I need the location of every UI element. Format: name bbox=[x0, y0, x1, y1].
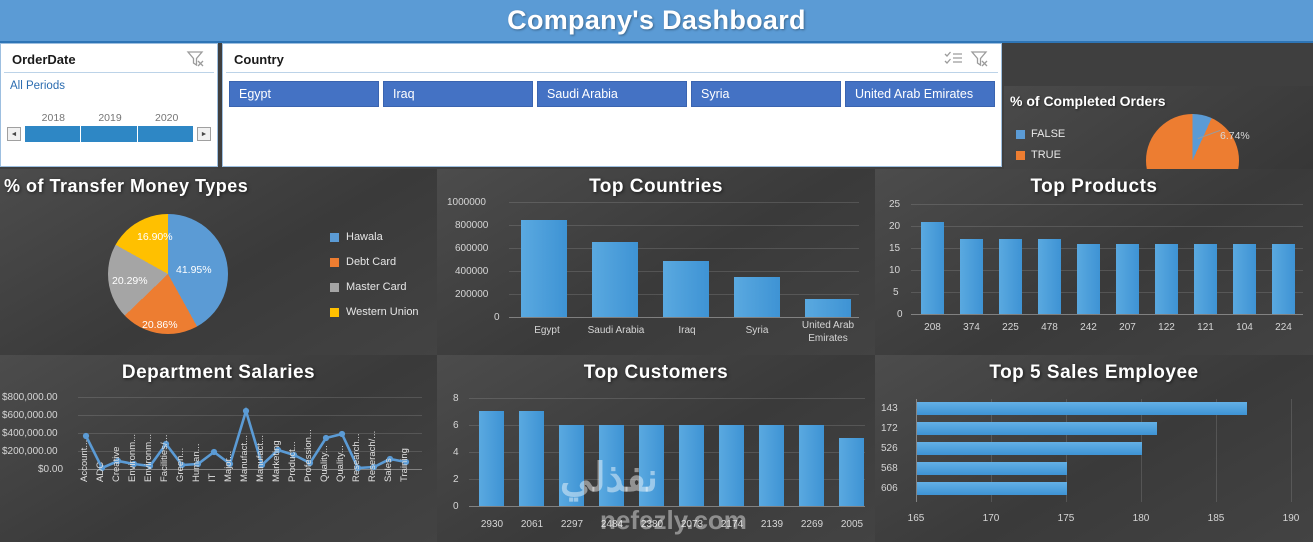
xtick: Account... bbox=[79, 440, 90, 482]
hbar-526 bbox=[917, 442, 1142, 455]
legend-swatch-hawala bbox=[330, 233, 339, 242]
legend-swatch-western-union bbox=[330, 308, 339, 317]
xtick: ADC bbox=[95, 462, 106, 482]
xtick: 478 bbox=[1036, 322, 1063, 333]
xtick: Sales bbox=[383, 458, 394, 482]
timeline-selection-bars[interactable] bbox=[25, 126, 193, 142]
department-salaries-title: Department Salaries bbox=[0, 355, 437, 384]
multi-select-icon[interactable] bbox=[944, 50, 964, 68]
legend-label-western-union: Western Union bbox=[346, 306, 419, 318]
legend-swatch-false bbox=[1016, 130, 1025, 139]
xtick: 2484 bbox=[598, 519, 626, 530]
legend-swatch-master-card bbox=[330, 283, 339, 292]
xtick: 2174 bbox=[718, 519, 746, 530]
top-countries-title: Top Countries bbox=[437, 169, 875, 198]
xtick: 165 bbox=[902, 513, 930, 524]
xtick: Training bbox=[399, 448, 410, 482]
xtick: 2269 bbox=[798, 519, 826, 530]
ytick: 0 bbox=[897, 309, 903, 320]
xtick: Major... bbox=[223, 451, 234, 482]
ytick: 15 bbox=[889, 243, 900, 254]
bar-uae bbox=[805, 299, 851, 317]
timeline-bar-2019[interactable] bbox=[81, 126, 137, 142]
bar-478 bbox=[1038, 239, 1061, 314]
dashboard-title-bar: Company's Dashboard bbox=[0, 0, 1313, 43]
xtick: Manufact... bbox=[239, 435, 250, 482]
ytick: 200000 bbox=[455, 289, 488, 300]
bar-208 bbox=[921, 222, 944, 314]
hbar-568 bbox=[917, 462, 1067, 475]
ytick: 8 bbox=[453, 393, 459, 404]
country-slicer[interactable]: Country Egypt Iraq bbox=[222, 43, 1002, 167]
legend-item-debt-card: Debt Card bbox=[330, 256, 419, 268]
top-countries-plot: 1000000 800000 600000 400000 200000 0 bbox=[437, 202, 875, 322]
xtick: Research... bbox=[351, 433, 362, 482]
page-title: Company's Dashboard bbox=[507, 5, 806, 36]
xtick-egypt: Egypt bbox=[527, 325, 567, 336]
ytick: 20 bbox=[889, 221, 900, 232]
legend-item-master-card: Master Card bbox=[330, 281, 419, 293]
xtick: Environm... bbox=[143, 434, 154, 482]
legend-item-false: FALSE bbox=[1016, 128, 1065, 140]
legend-label-master-card: Master Card bbox=[346, 281, 407, 293]
completed-orders-title: % of Completed Orders bbox=[1004, 86, 1313, 109]
bar-242 bbox=[1077, 244, 1100, 314]
xtick-uae: United Arab Emirates bbox=[794, 319, 862, 345]
top-products-title: Top Products bbox=[875, 169, 1313, 198]
legend-swatch-true bbox=[1016, 151, 1025, 160]
legend-label-debt-card: Debt Card bbox=[346, 256, 396, 268]
orderdate-timeline-slicer[interactable]: OrderDate All Periods 2018 2019 2020 ◄ bbox=[0, 43, 218, 167]
ytick: 10 bbox=[889, 265, 900, 276]
ytick: 526 bbox=[881, 443, 898, 454]
timeline-header: OrderDate bbox=[4, 44, 214, 73]
legend-label-false: FALSE bbox=[1031, 128, 1065, 140]
xtick: 225 bbox=[997, 322, 1024, 333]
xtick: Environm... bbox=[127, 434, 138, 482]
bar-syria bbox=[734, 277, 780, 317]
ytick: 2 bbox=[453, 474, 459, 485]
bar-2005 bbox=[839, 438, 864, 506]
xtick: 374 bbox=[958, 322, 985, 333]
xtick: Product... bbox=[287, 441, 298, 482]
ytick: 800000 bbox=[455, 220, 488, 231]
hbar-143 bbox=[917, 402, 1247, 415]
xtick: IT bbox=[207, 474, 218, 482]
bar-2139 bbox=[759, 425, 784, 506]
legend-label-true: TRUE bbox=[1031, 149, 1061, 161]
hbar-606 bbox=[917, 482, 1067, 495]
bar-2930 bbox=[479, 411, 504, 506]
legend-item-true: TRUE bbox=[1016, 149, 1065, 161]
bar-121 bbox=[1194, 244, 1217, 314]
ytick: 5 bbox=[893, 287, 899, 298]
bar-224 bbox=[1272, 244, 1295, 314]
xtick-iraq: Iraq bbox=[667, 325, 707, 336]
timeline-prev-arrow[interactable]: ◄ bbox=[7, 127, 21, 141]
timeline-track[interactable]: ◄ ► bbox=[7, 126, 211, 142]
ytick: 568 bbox=[881, 463, 898, 474]
timeline-next-arrow[interactable]: ► bbox=[197, 127, 211, 141]
bar-2061 bbox=[519, 411, 544, 506]
legend-swatch-debt-card bbox=[330, 258, 339, 267]
bar-2380 bbox=[639, 425, 664, 506]
bar-2484 bbox=[599, 425, 624, 506]
pie-value-master-card: 20.29% bbox=[112, 275, 148, 287]
xtick: 121 bbox=[1192, 322, 1219, 333]
timeline-title: OrderDate bbox=[12, 52, 186, 67]
xtick: Reserach/... bbox=[367, 431, 378, 482]
country-slicer-item-egypt[interactable]: Egypt bbox=[229, 81, 379, 107]
ytick: 0 bbox=[453, 501, 459, 512]
ytick: 25 bbox=[889, 199, 900, 210]
xtick: 180 bbox=[1127, 513, 1155, 524]
ytick: 606 bbox=[881, 483, 898, 494]
xtick: Marketing bbox=[271, 440, 282, 482]
xtick-syria: Syria bbox=[737, 325, 777, 336]
ytick: 4 bbox=[453, 447, 459, 458]
ytick: 6 bbox=[453, 420, 459, 431]
transfer-money-types-title: % of Transfer Money Types bbox=[0, 169, 437, 197]
xtick: 2139 bbox=[758, 519, 786, 530]
department-salaries-panel: Department Salaries $800,000.00 $600,000… bbox=[0, 355, 437, 542]
xtick: Quality... bbox=[335, 445, 346, 482]
ytick: 600000 bbox=[455, 243, 488, 254]
country-slicer-item-saudi-arabia[interactable]: Saudi Arabia bbox=[537, 81, 687, 107]
xtick: Profession... bbox=[303, 429, 314, 482]
xtick: Human... bbox=[191, 443, 202, 482]
top-sales-employee-plot: 143 172 526 568 606 bbox=[875, 395, 1313, 505]
xtick: 208 bbox=[919, 322, 946, 333]
ytick: 400000 bbox=[455, 266, 488, 277]
xtick: 2061 bbox=[518, 519, 546, 530]
xtick: 2297 bbox=[558, 519, 586, 530]
bar-2174 bbox=[719, 425, 744, 506]
legend-item-hawala: Hawala bbox=[330, 231, 419, 243]
timeline-bar-2018[interactable] bbox=[25, 126, 81, 142]
xtick: 2930 bbox=[478, 519, 506, 530]
transfer-money-types-legend: Hawala Debt Card Master Card Western Uni… bbox=[330, 231, 419, 331]
top-countries-panel: Top Countries 1000000 800000 600000 4000… bbox=[437, 169, 875, 355]
bar-2297 bbox=[559, 425, 584, 506]
completed-orders-value-false: 6.74% bbox=[1220, 130, 1250, 142]
completed-orders-legend: FALSE TRUE bbox=[1016, 128, 1065, 170]
ytick: 0 bbox=[494, 312, 500, 323]
clear-filter-icon[interactable] bbox=[970, 50, 990, 68]
bar-iraq bbox=[663, 261, 709, 317]
hbar-172 bbox=[917, 422, 1157, 435]
legend-item-western-union: Western Union bbox=[330, 306, 419, 318]
ytick: 172 bbox=[881, 423, 898, 434]
xtick: 190 bbox=[1277, 513, 1305, 524]
bar-374 bbox=[960, 239, 983, 314]
top-products-panel: Top Products 25 20 15 10 5 0 208 3 bbox=[875, 169, 1313, 355]
top-customers-plot: 8 6 4 2 0 bbox=[437, 395, 875, 517]
top-customers-title: Top Customers bbox=[437, 355, 875, 384]
legend-label-hawala: Hawala bbox=[346, 231, 383, 243]
xtick: 242 bbox=[1075, 322, 1102, 333]
xtick: 104 bbox=[1231, 322, 1258, 333]
slicer-row: OrderDate All Periods 2018 2019 2020 ◄ bbox=[0, 43, 1313, 169]
bar-122 bbox=[1155, 244, 1178, 314]
xtick-saudi-arabia: Saudi Arabia bbox=[582, 325, 650, 336]
bar-104 bbox=[1233, 244, 1256, 314]
xtick: 170 bbox=[977, 513, 1005, 524]
pie-value-western-union: 16.90% bbox=[137, 231, 173, 243]
ytick: 143 bbox=[881, 403, 898, 414]
timeline-period-label[interactable]: All Periods bbox=[1, 73, 217, 92]
xtick: 185 bbox=[1202, 513, 1230, 524]
country-title: Country bbox=[234, 52, 944, 67]
pie-value-debt-card: 20.86% bbox=[142, 319, 178, 331]
xtick: 224 bbox=[1270, 322, 1297, 333]
timeline-year-labels: 2018 2019 2020 bbox=[25, 112, 195, 124]
xtick: 175 bbox=[1052, 513, 1080, 524]
transfer-money-types-panel: % of Transfer Money Types 41.95% 20.86% … bbox=[0, 169, 437, 355]
country-slicer-item-syria[interactable]: Syria bbox=[691, 81, 841, 107]
xtick: Green... bbox=[175, 448, 186, 482]
xtick: Facilities/... bbox=[159, 434, 170, 482]
bar-saudi-arabia bbox=[592, 242, 638, 317]
bar-225 bbox=[999, 239, 1022, 314]
xtick: 2073 bbox=[678, 519, 706, 530]
xtick: 207 bbox=[1114, 322, 1141, 333]
country-slicer-item-iraq[interactable]: Iraq bbox=[383, 81, 533, 107]
timeline-year: 2020 bbox=[138, 112, 195, 124]
bar-egypt bbox=[521, 220, 567, 317]
bar-207 bbox=[1116, 244, 1139, 314]
xtick: Manufact... bbox=[255, 435, 266, 482]
timeline-bar-2020[interactable] bbox=[138, 126, 193, 142]
bar-2073 bbox=[679, 425, 704, 506]
top-sales-employee-panel: Top 5 Sales Employee 143 172 526 568 606… bbox=[875, 355, 1313, 542]
pie-value-hawala: 41.95% bbox=[176, 264, 212, 276]
top-sales-employee-title: Top 5 Sales Employee bbox=[875, 355, 1313, 384]
timeline-year: 2018 bbox=[25, 112, 82, 124]
timeline-year: 2019 bbox=[82, 112, 139, 124]
xtick: 2005 bbox=[838, 519, 866, 530]
xtick: Quality... bbox=[319, 445, 330, 482]
country-header: Country bbox=[226, 44, 998, 73]
top-customers-panel: Top Customers 8 6 4 2 0 2930 2061 2297 bbox=[437, 355, 875, 542]
bar-2269 bbox=[799, 425, 824, 506]
ytick: 1000000 bbox=[447, 197, 486, 208]
top-products-plot: 25 20 15 10 5 0 bbox=[875, 204, 1313, 324]
country-slicer-items: Egypt Iraq Saudi Arabia Syria United Ara… bbox=[223, 73, 1001, 107]
country-slicer-item-united-arab-emirates[interactable]: United Arab Emirates bbox=[845, 81, 995, 107]
xtick: 122 bbox=[1153, 322, 1180, 333]
clear-filter-icon[interactable] bbox=[186, 50, 206, 68]
dashboard-root: Company's Dashboard OrderDate All Period… bbox=[0, 0, 1313, 542]
xtick: 2380 bbox=[638, 519, 666, 530]
xtick: Creative bbox=[111, 447, 122, 482]
